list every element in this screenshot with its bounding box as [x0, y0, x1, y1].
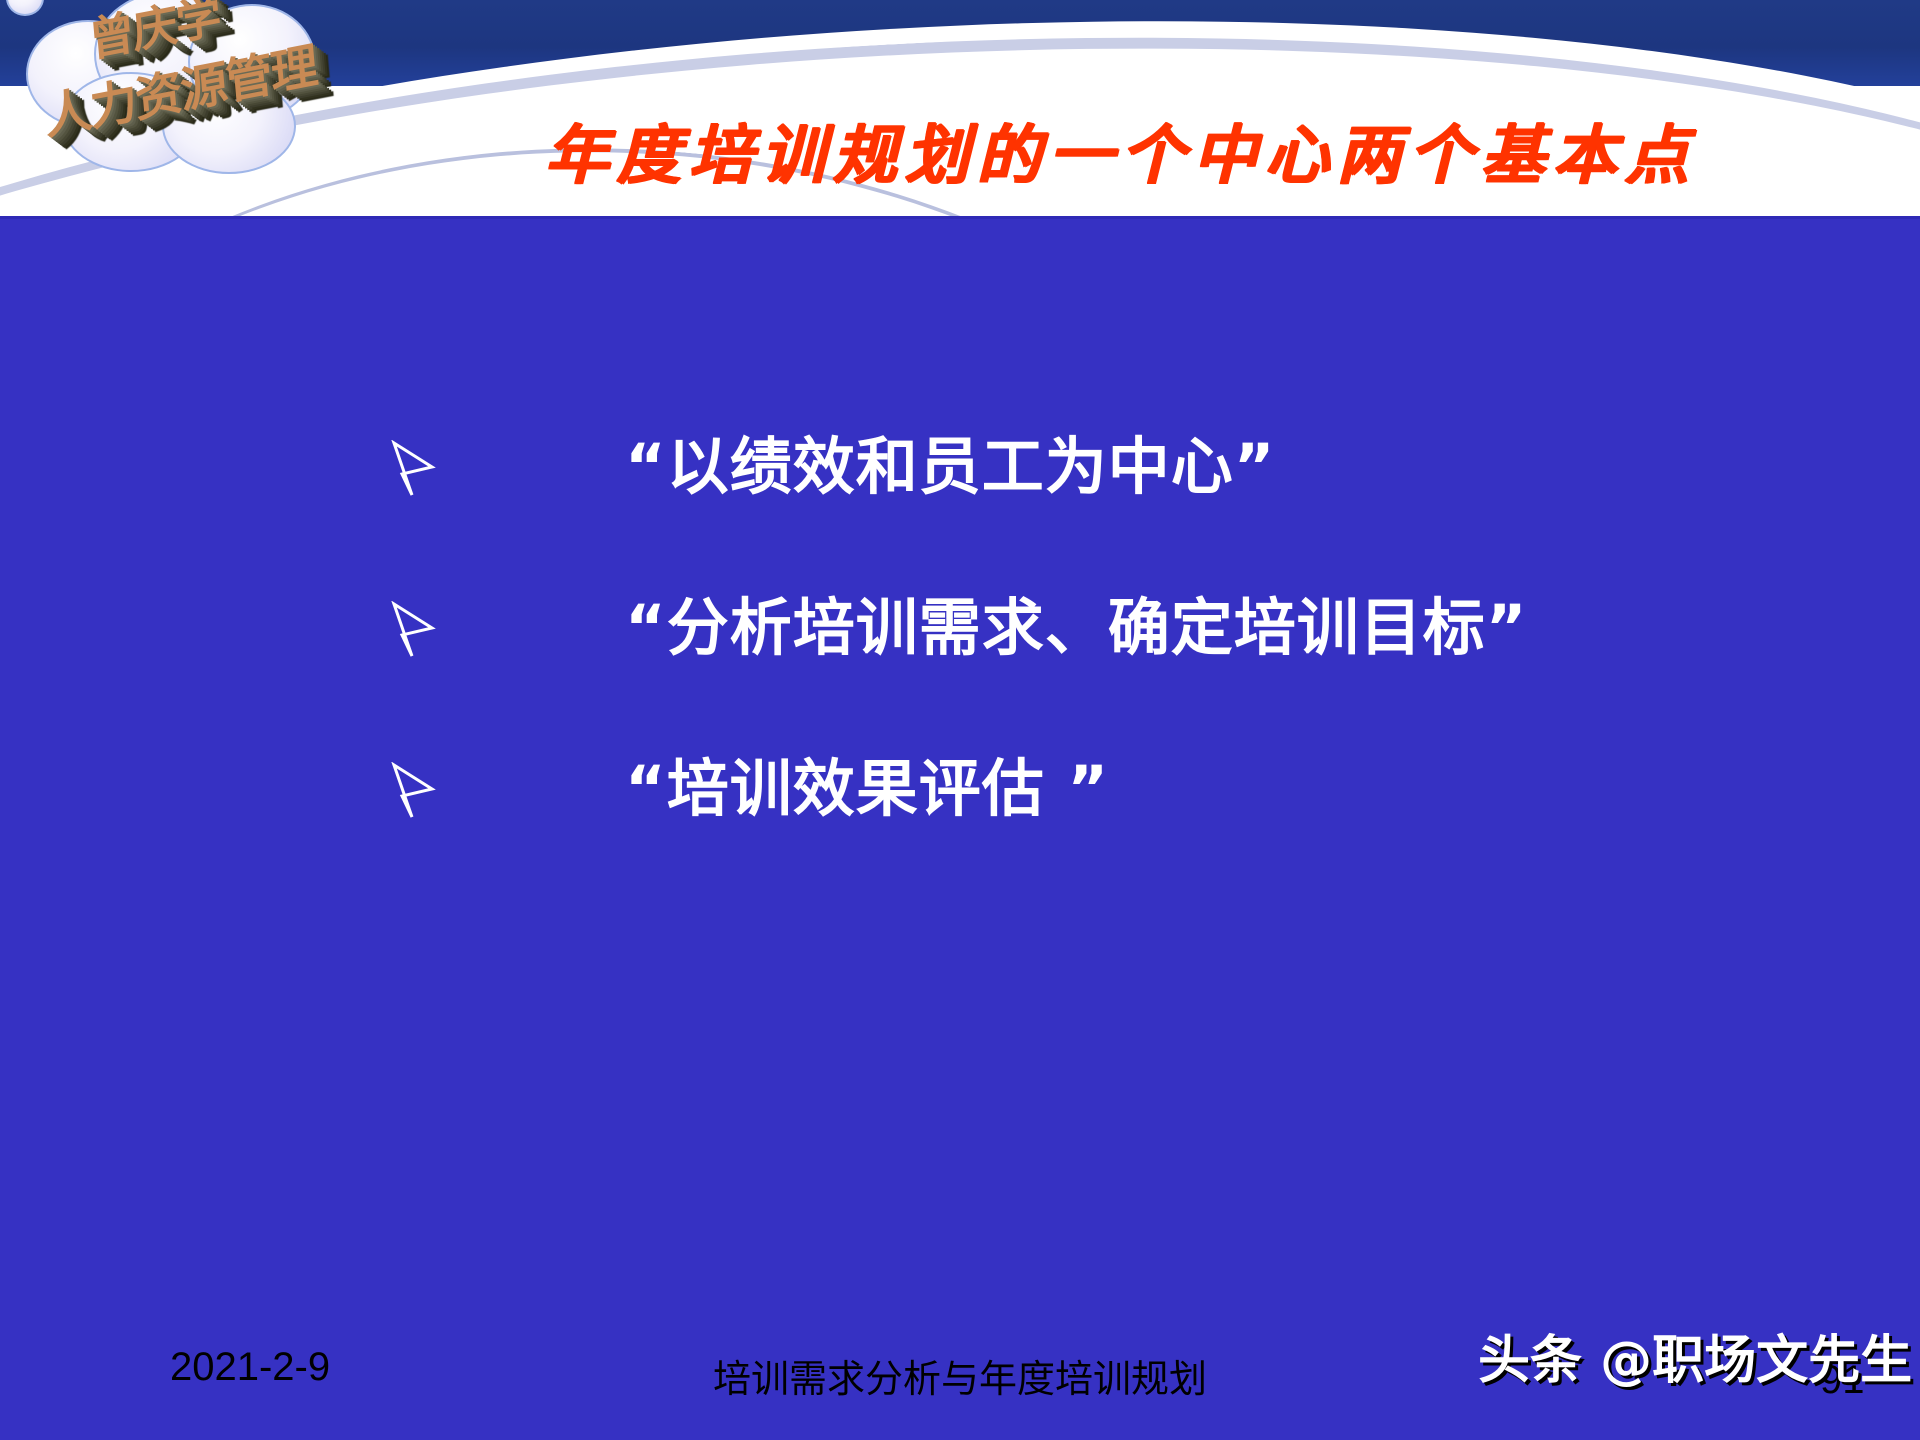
cloud-bubble-icon — [6, 0, 44, 16]
slide-header: 曾庆学 人力资源管理 年度培训规划的一个中心两个基本点 — [0, 0, 1920, 218]
slide-body: “以绩效和员工为中心” “分析培训需求、确定培训目标” “培训效果评估 ” — [0, 219, 1920, 1440]
list-item: “培训效果评估 ” — [0, 756, 1920, 821]
bullet-text: “培训效果评估 ” — [625, 756, 1109, 821]
cloud-logo: 曾庆学 人力资源管理 — [2, 0, 342, 176]
slide-canvas: 曾庆学 人力资源管理 年度培训规划的一个中心两个基本点 “以绩效和员工为中心” — [0, 0, 1920, 1440]
watermark: 头条 @职场文先生 — [1478, 1318, 1912, 1393]
arrow-bullet-icon — [390, 440, 450, 498]
bullet-list: “以绩效和员工为中心” “分析培训需求、确定培训目标” “培训效果评估 ” — [0, 434, 1920, 917]
bullet-text: “分析培训需求、确定培训目标” — [625, 595, 1528, 660]
bullet-text: “以绩效和员工为中心” — [625, 434, 1276, 499]
arrow-bullet-icon — [390, 762, 450, 820]
arrow-bullet-icon — [390, 601, 450, 659]
list-item: “以绩效和员工为中心” — [0, 434, 1920, 499]
page-title: 年度培训规划的一个中心两个基本点 — [340, 104, 1900, 196]
list-item: “分析培训需求、确定培训目标” — [0, 595, 1920, 660]
